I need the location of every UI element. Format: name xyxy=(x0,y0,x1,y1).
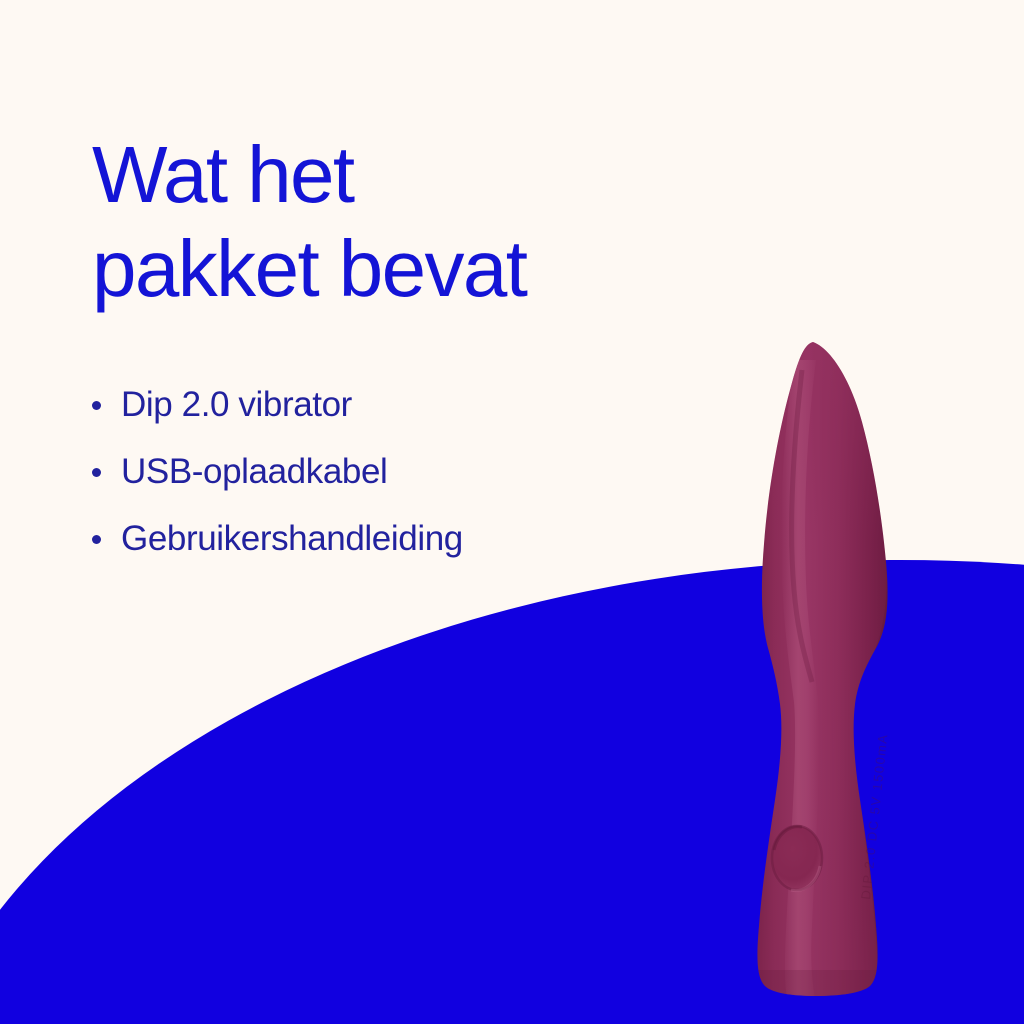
bullet-icon xyxy=(92,401,101,410)
engraving-text: DIP 2.0 DC 5V 1500mA xyxy=(858,733,890,901)
bullet-icon xyxy=(92,468,101,477)
power-button[interactable] xyxy=(772,826,822,891)
package-contents-list: Dip 2.0 vibrator USB-oplaadkabel Gebruik… xyxy=(92,387,712,557)
list-item: Gebruikershandleiding xyxy=(92,521,712,557)
marketing-card: Wat het pakket bevat Dip 2.0 vibrator US… xyxy=(0,0,1024,1024)
list-item-label: Gebruikershandleiding xyxy=(121,519,463,558)
product-image: DIP 2.0 DC 5V 1500mA xyxy=(690,330,970,1024)
bullet-icon xyxy=(92,535,101,544)
product-body xyxy=(690,330,970,1024)
list-item: USB-oplaadkabel xyxy=(92,454,712,490)
page-title: Wat het pakket bevat xyxy=(92,128,732,316)
list-item-label: USB-oplaadkabel xyxy=(121,452,387,491)
text-column: Wat het pakket bevat Dip 2.0 vibrator US… xyxy=(92,128,732,316)
list-item-label: Dip 2.0 vibrator xyxy=(121,385,352,424)
list-item: Dip 2.0 vibrator xyxy=(92,387,712,423)
svg-text:DIP 2.0 DC 5V 1500mA: DIP 2.0 DC 5V 1500mA xyxy=(858,733,890,901)
